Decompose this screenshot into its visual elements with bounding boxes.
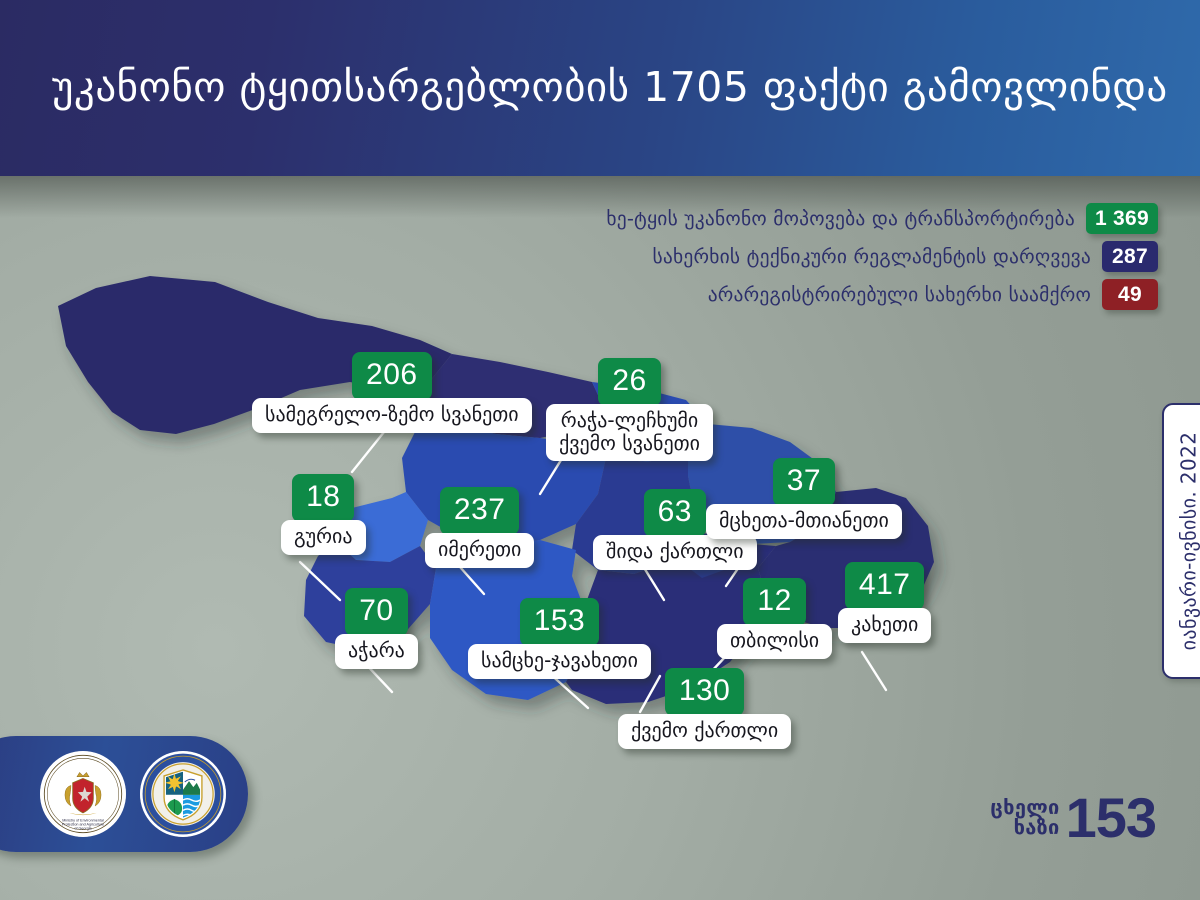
marker-value: 206 bbox=[352, 352, 432, 400]
ministry-emblem-icon: Ministry of Environmental Protection and… bbox=[40, 751, 126, 837]
legend-label: ხე-ტყის უკანონო მოპოვება და ტრანსპორტირე… bbox=[606, 209, 1075, 229]
marker-value: 70 bbox=[345, 588, 407, 636]
marker-value: 12 bbox=[743, 578, 805, 626]
hotline-line1: ცხელი bbox=[990, 797, 1059, 817]
marker-label: შიდა ქართლი bbox=[593, 535, 757, 570]
marker-label: აჭარა bbox=[335, 634, 418, 669]
marker-label: ქვემო ქართლი bbox=[618, 714, 791, 749]
marker-value: 417 bbox=[845, 562, 925, 610]
marker-value: 237 bbox=[440, 487, 520, 535]
marker-label: მცხეთა-მთიანეთი bbox=[706, 504, 902, 539]
marker-label: იმერეთი bbox=[425, 533, 534, 568]
marker-kvemo-kartli[interactable]: 130 ქვემო ქართლი bbox=[618, 668, 791, 749]
marker-label: გურია bbox=[281, 520, 366, 555]
marker-label: თბილისი bbox=[717, 624, 832, 659]
marker-value: 63 bbox=[644, 489, 706, 537]
marker-samegrelo-zemo-svaneti[interactable]: 206 სამეგრელო-ზემო სვანეთი bbox=[252, 352, 532, 433]
marker-mtskheta-mtianeti[interactable]: 37 მცხეთა-მთიანეთი bbox=[706, 458, 902, 539]
marker-value: 37 bbox=[773, 458, 835, 506]
marker-tbilisi[interactable]: 12 თბილისი bbox=[717, 578, 832, 659]
legend-badge-illegal-logging: 1 369 bbox=[1086, 203, 1158, 234]
date-range-tab: იანვარი-ივნისი. 2022 bbox=[1162, 403, 1200, 679]
hotline-line2: ხაზი bbox=[1014, 817, 1060, 837]
legend-label: არარეგისტრირებული სახერხი საამქრო bbox=[708, 285, 1091, 305]
hotline-words: ცხელი ხაზი bbox=[990, 797, 1059, 838]
page-title: უკანონო ტყითსარგებლობის 1705 ფაქტი გამოვ… bbox=[0, 65, 1168, 110]
legend-row: ხე-ტყის უკანონო მოპოვება და ტრანსპორტირე… bbox=[606, 203, 1158, 234]
marker-value: 153 bbox=[520, 598, 600, 646]
marker-label: სამეგრელო-ზემო სვანეთი bbox=[252, 398, 532, 433]
marker-label: კახეთი bbox=[838, 608, 931, 643]
hotline: ცხელი ხაზი 153 bbox=[990, 793, 1156, 842]
marker-guria[interactable]: 18 გურია bbox=[281, 474, 366, 555]
legend-row: არარეგისტრირებული სახერხი საამქრო 49 bbox=[606, 279, 1158, 310]
marker-value: 18 bbox=[292, 474, 354, 522]
marker-value: 26 bbox=[598, 358, 660, 406]
legend-badge-unregistered-sawmill: 49 bbox=[1102, 279, 1158, 310]
footer-logo-pill: Ministry of Environmental Protection and… bbox=[0, 736, 248, 852]
marker-kakheti[interactable]: 417 კახეთი bbox=[838, 562, 931, 643]
legend: ხე-ტყის უკანონო მოპოვება და ტრანსპორტირე… bbox=[606, 203, 1158, 317]
marker-imereti[interactable]: 237 იმერეთი bbox=[425, 487, 534, 568]
legend-row: სახერხის ტექნიკური რეგლამენტის დარღვევა … bbox=[606, 241, 1158, 272]
supervision-emblem-icon bbox=[140, 751, 226, 837]
infographic-canvas: უკანონო ტყითსარგებლობის 1705 ფაქტი გამოვ… bbox=[0, 0, 1200, 900]
marker-label: რაჭა-ლეჩხუმი ქვემო სვანეთი bbox=[546, 404, 713, 461]
legend-badge-sawmill-violation: 287 bbox=[1102, 241, 1158, 272]
date-range-text: იანვარი-ივნისი. 2022 bbox=[1176, 432, 1200, 651]
marker-adjara[interactable]: 70 აჭარა bbox=[335, 588, 418, 669]
header-banner: უკანონო ტყითსარგებლობის 1705 ფაქტი გამოვ… bbox=[0, 0, 1200, 176]
marker-value: 130 bbox=[665, 668, 745, 716]
legend-label: სახერხის ტექნიკური რეგლამენტის დარღვევა bbox=[653, 247, 1092, 267]
svg-text:of Georgia: of Georgia bbox=[74, 826, 92, 830]
marker-racha-lechkhumi-kvemo-svaneti[interactable]: 26 რაჭა-ლეჩხუმი ქვემო სვანეთი bbox=[546, 358, 713, 461]
hotline-number: 153 bbox=[1066, 793, 1156, 842]
marker-samtskhe-javakheti[interactable]: 153 სამცხე-ჯავახეთი bbox=[468, 598, 651, 679]
